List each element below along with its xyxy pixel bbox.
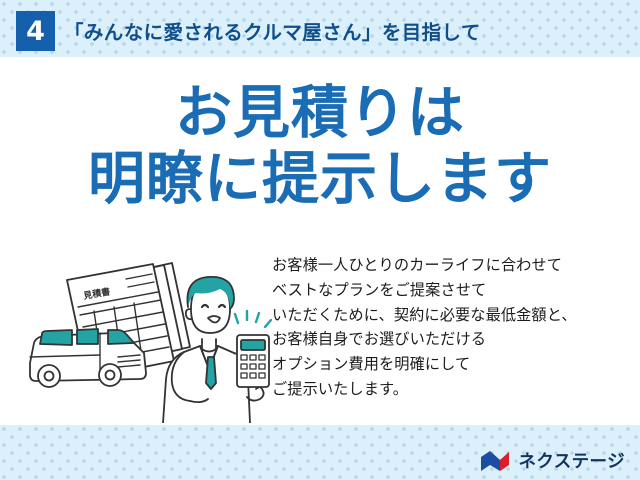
brand-logo: ネクステージ	[480, 448, 625, 473]
body-line: お客様一人ひとりのカーライフに合わせて	[272, 253, 577, 278]
body-copy: お客様一人ひとりのカーライフに合わせて ベストなプランをご提案させて いただくた…	[272, 253, 577, 402]
step-number-badge: 4	[16, 11, 55, 51]
headline-line-1: お見積りは	[0, 83, 640, 143]
body-line: オプション費用を明確にして	[272, 352, 577, 377]
header-title: 「みんなに愛されるクルマ屋さん」を目指して	[64, 16, 481, 45]
calculator-icon	[237, 335, 269, 387]
brand-name: ネクステージ	[518, 448, 625, 473]
van-icon	[30, 329, 146, 387]
body-line: いただくために、契約に必要な最低金額と、	[272, 303, 577, 328]
advertisement-page: 4 「みんなに愛されるクルマ屋さん」を目指して お見積りは 明瞭に提示します お…	[0, 0, 640, 480]
headline-line-2: 明瞭に提示します	[0, 149, 640, 209]
illustration-graphic: 見積書	[22, 251, 272, 423]
nexstage-n-mark-icon	[480, 450, 511, 472]
body-line: お客様自身でお選びいただける	[272, 327, 577, 352]
sparkle-icon	[235, 311, 271, 327]
salesperson-illustration: 見積書	[22, 251, 272, 423]
body-line: ベストなプランをご提案させて	[272, 278, 577, 303]
headline: お見積りは 明瞭に提示します	[0, 83, 640, 210]
body-line: ご提示いたします。	[272, 377, 577, 402]
content-panel: お見積りは 明瞭に提示します お客様一人ひとりのカーライフに合わせて ベストなプ…	[0, 57, 640, 425]
